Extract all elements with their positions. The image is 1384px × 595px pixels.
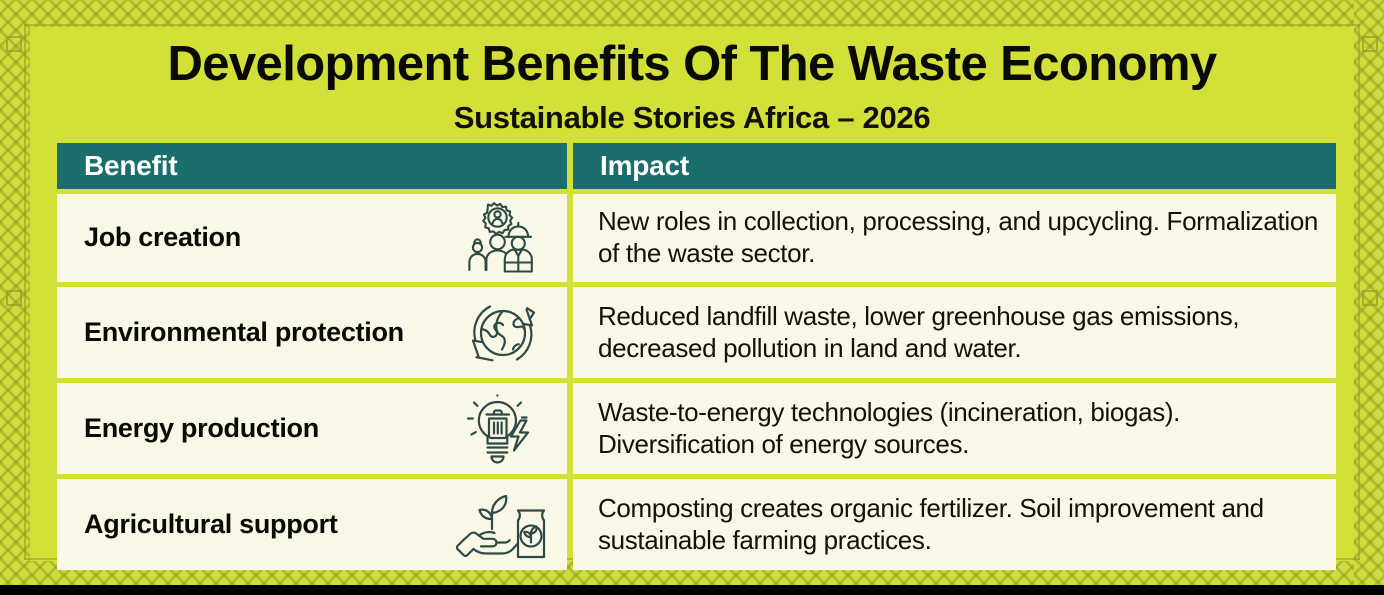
benefit-cell: Energy production — [57, 383, 567, 474]
lightbulb-trash-bolt-icon — [447, 390, 557, 468]
benefit-label: Job creation — [84, 222, 447, 253]
impact-cell: Reduced landfill waste, lower greenhouse… — [573, 287, 1336, 378]
globe-recycle-icon — [447, 294, 557, 372]
border-ornament-square-mid-left — [6, 290, 22, 306]
border-ornament-square-mid-right — [1362, 290, 1378, 306]
workers-gear-icon — [447, 200, 557, 276]
impact-cell: New roles in collection, processing, and… — [573, 194, 1336, 282]
slide-canvas: Development Benefits Of The Waste Econom… — [0, 0, 1384, 595]
benefit-label: Energy production — [84, 413, 447, 444]
impact-text: Composting creates organic fertilizer. S… — [598, 493, 1322, 556]
column-header-impact: Impact — [573, 143, 1336, 189]
impact-cell: Waste-to-energy technologies (incinerati… — [573, 383, 1336, 474]
impact-cell: Composting creates organic fertilizer. S… — [573, 479, 1336, 570]
hand-seedling-fertilizer-icon — [447, 488, 557, 562]
table-row[interactable]: Environmental protection — [57, 287, 1336, 378]
impact-text: New roles in collection, processing, and… — [598, 206, 1322, 269]
benefit-cell: Job creation — [57, 194, 567, 282]
table-row[interactable]: Job creation — [57, 194, 1336, 282]
letterbox-bar-bottom — [0, 585, 1384, 595]
table-row[interactable]: Energy production — [57, 383, 1336, 474]
border-ornament-square-top-left — [6, 36, 22, 52]
border-rule-left — [24, 24, 26, 560]
table-header-row: Benefit Impact — [57, 143, 1336, 189]
table-row[interactable]: Agricultural support — [57, 479, 1336, 570]
benefit-label: Environmental protection — [84, 317, 447, 348]
impact-text: Reduced landfill waste, lower greenhouse… — [598, 301, 1322, 364]
border-rule-top — [24, 24, 1360, 26]
page-title: Development Benefits Of The Waste Econom… — [30, 40, 1354, 89]
decorative-border-top — [0, 0, 1384, 27]
page-subtitle: Sustainable Stories Africa – 2026 — [30, 100, 1354, 136]
benefit-cell: Environmental protection — [57, 287, 567, 378]
benefit-cell: Agricultural support — [57, 479, 567, 570]
column-header-benefit: Benefit — [57, 143, 567, 189]
border-ornament-square-top-right — [1362, 36, 1378, 52]
benefit-label: Agricultural support — [84, 509, 447, 540]
border-rule-right — [1358, 24, 1360, 560]
benefits-table: Benefit Impact Job creation — [57, 143, 1336, 570]
slide-content: Development Benefits Of The Waste Econom… — [30, 28, 1354, 558]
impact-text: Waste-to-energy technologies (incinerati… — [598, 397, 1322, 460]
